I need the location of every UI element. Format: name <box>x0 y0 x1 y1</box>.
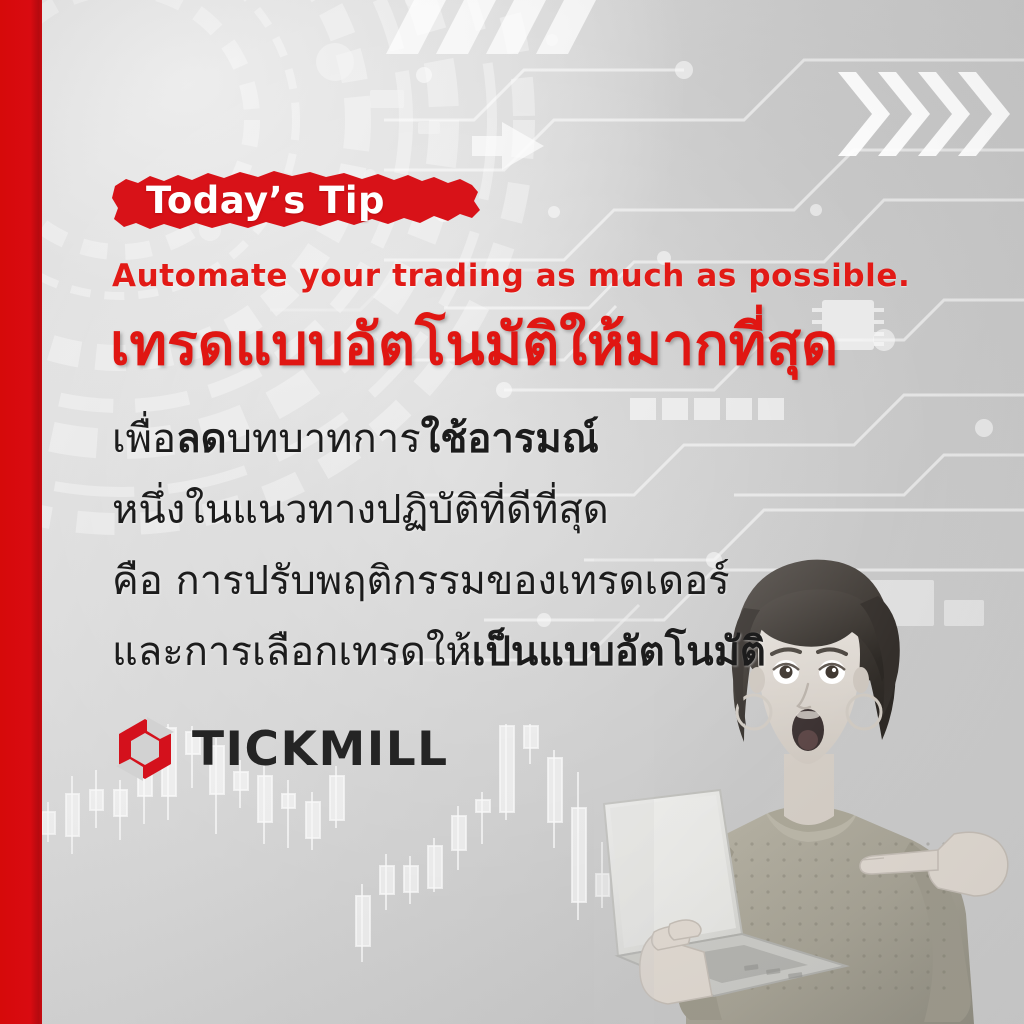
body-line: หนึ่งในแนวทางปฏิบัติที่ดีที่สุด <box>112 475 832 546</box>
todays-tip-badge: Today’s Tip <box>112 170 482 232</box>
body-line: คือ การปรับพฤติกรรมของเทรดเดอร์ <box>112 546 832 617</box>
tagline-text: Automate your trading as much as possibl… <box>112 258 942 294</box>
tickmill-hexagon-icon <box>114 717 176 781</box>
headline-text: เทรดแบบอัตโนมัติให้มากที่สุด <box>110 312 970 378</box>
body-copy: เพื่อลดบทบาทการใช้อารมณ์หนึ่งในแนวทางปฏิ… <box>112 404 832 688</box>
body-segment: บทบาทการ <box>227 416 421 462</box>
body-segment-emphasis: ใช้อารมณ์ <box>421 416 599 462</box>
poster: Today’s Tip Automate your trading as muc… <box>0 0 1024 1024</box>
tickmill-wordmark: TICKMILL <box>192 726 449 773</box>
body-segment-emphasis: เป็นแบบอัตโนมัติ <box>472 629 766 675</box>
body-line: และการเลือกเทรดให้เป็นแบบอัตโนมัติ <box>112 617 832 688</box>
tickmill-logo: TICKMILL <box>114 716 449 782</box>
body-segment: คือ การปรับพฤติกรรมของเทรดเดอร์ <box>112 558 730 604</box>
body-segment: เพื่อ <box>112 416 176 462</box>
body-segment-emphasis: ลด <box>176 416 227 462</box>
todays-tip-label: Today’s Tip <box>146 175 385 227</box>
body-segment: และการเลือกเทรดให้ <box>112 629 472 675</box>
body-segment: หนึ่งในแนวทางปฏิบัติที่ดีที่สุด <box>112 487 609 533</box>
left-accent-bar <box>0 0 42 1024</box>
body-line: เพื่อลดบทบาทการใช้อารมณ์ <box>112 404 832 475</box>
